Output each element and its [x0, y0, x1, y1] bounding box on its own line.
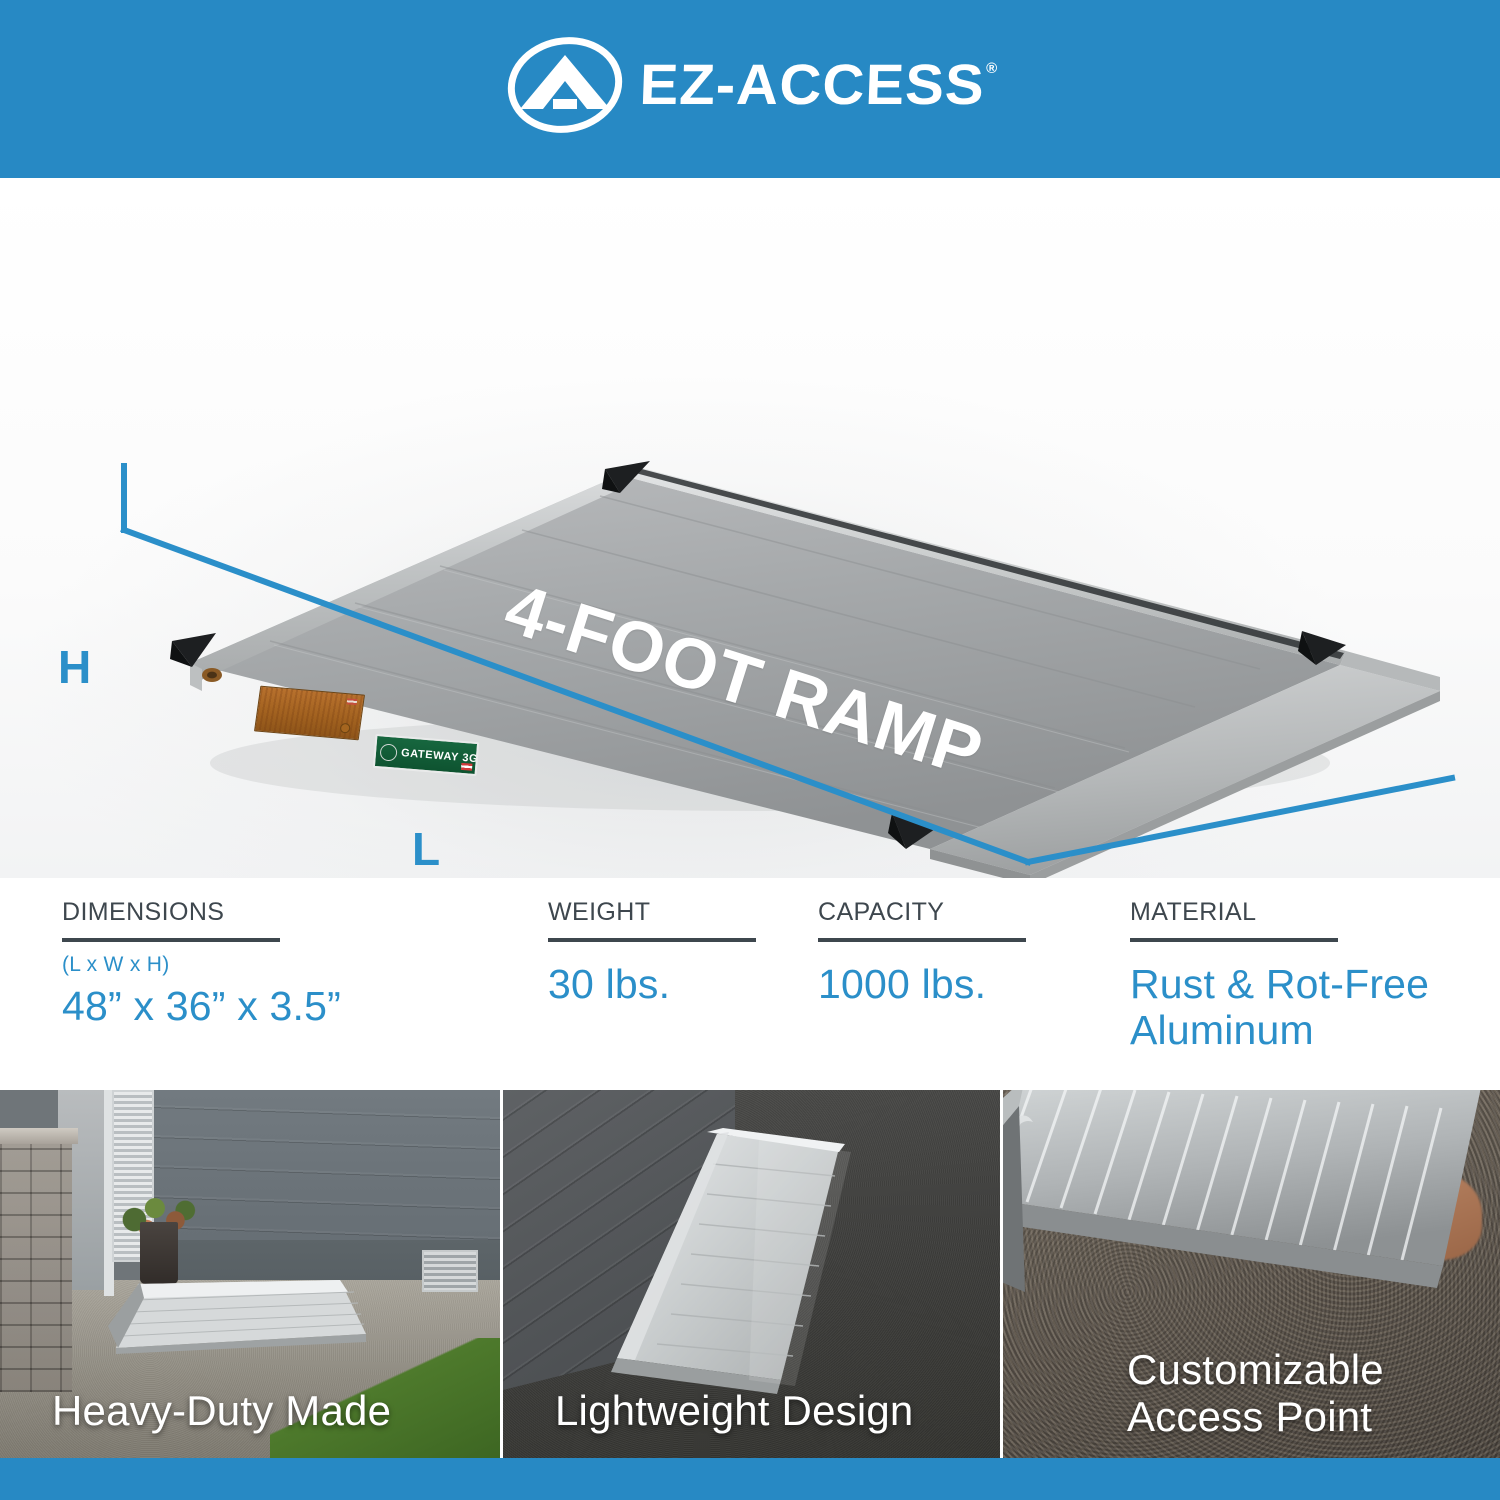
feature-photo-strip: Heavy-Duty Made	[0, 1090, 1500, 1458]
specs-row: DIMENSIONS (L x W x H) 48” x 36” x 3.5” …	[0, 878, 1500, 1090]
spec-label: MATERIAL	[1130, 900, 1430, 925]
spec-weight: WEIGHT 30 lbs.	[548, 900, 756, 1008]
spec-dimensions: DIMENSIONS (L x W x H) 48” x 36” x 3.5”	[62, 900, 341, 1030]
dimension-callout-lines: H L W	[0, 178, 1500, 878]
hero-product-image: GATEWAY 3G 4-FOOT RAMP H L W	[0, 178, 1500, 878]
spec-label: WEIGHT	[548, 900, 756, 925]
brand-wordmark: EZ-ACCESS ®	[643, 57, 997, 114]
photo-caption-line2: Access Point	[1127, 1393, 1384, 1440]
ramp-edge-closeup	[1000, 1090, 1483, 1328]
foundation-vent	[422, 1250, 478, 1292]
photo-caption-line1: Customizable	[1127, 1346, 1384, 1393]
spec-divider	[62, 938, 280, 942]
stone-column	[0, 1132, 72, 1392]
dimension-label-l: L	[412, 826, 440, 872]
installed-ramp	[108, 1276, 368, 1354]
spec-sublabel: (L x W x H)	[62, 954, 341, 975]
spec-divider	[1130, 938, 1338, 942]
brand-name: EZ-ACCESS	[638, 57, 985, 114]
spec-value: 30 lbs.	[548, 962, 756, 1008]
spec-label: CAPACITY	[818, 900, 1026, 925]
registered-trademark-icon: ®	[986, 61, 997, 76]
ez-access-mountain-oval-logo-icon	[503, 33, 627, 137]
dimension-label-h: H	[58, 644, 91, 690]
product-infographic: EZ-ACCESS ®	[0, 0, 1500, 1500]
spec-label: DIMENSIONS	[62, 900, 341, 925]
planter-pot	[140, 1222, 178, 1284]
brand-header: EZ-ACCESS ®	[0, 0, 1500, 178]
photo-caption: Heavy-Duty Made	[52, 1387, 391, 1434]
spec-value: 1000 lbs.	[818, 962, 1026, 1008]
photo-access-point: Customizable Access Point	[1000, 1090, 1500, 1458]
spec-material: MATERIAL Rust & Rot-Free Aluminum	[1130, 900, 1430, 1054]
spec-value: 48” x 36” x 3.5”	[62, 984, 341, 1030]
spec-capacity: CAPACITY 1000 lbs.	[818, 900, 1026, 1008]
spec-divider	[548, 938, 756, 942]
stone-column-cap	[0, 1128, 78, 1144]
photo-lightweight: Lightweight Design	[500, 1090, 1000, 1458]
spec-value: Rust & Rot-Free Aluminum	[1130, 962, 1430, 1054]
brand-logo: EZ-ACCESS ®	[503, 33, 997, 137]
photo-caption: Customizable Access Point	[1127, 1346, 1384, 1440]
footer-bar	[0, 1458, 1500, 1500]
photo-heavy-duty: Heavy-Duty Made	[0, 1090, 500, 1458]
installed-ramp	[599, 1118, 919, 1410]
spec-divider	[818, 938, 1026, 942]
photo-caption: Lightweight Design	[555, 1387, 914, 1434]
